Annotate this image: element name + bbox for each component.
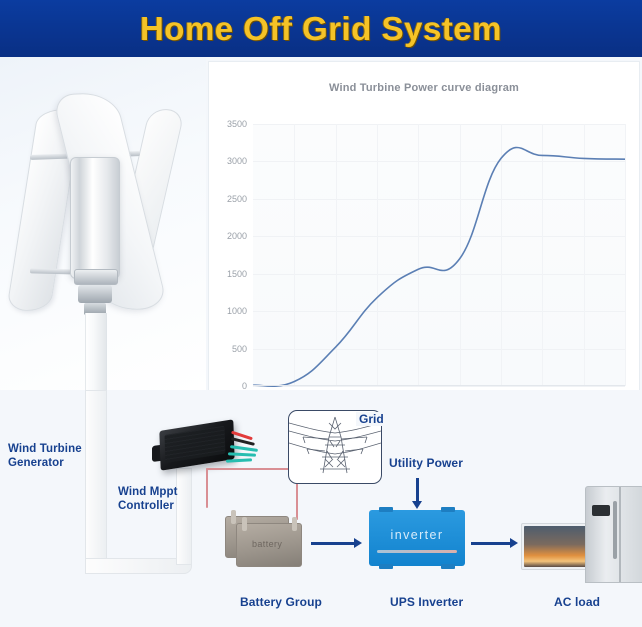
- fridge-display-panel: [592, 505, 610, 516]
- label-battery-group: Battery Group: [240, 595, 322, 609]
- chart-y-tick: 2500: [227, 194, 247, 204]
- label-ac-load: AC load: [554, 595, 600, 609]
- dc-wire-vertical: [206, 468, 208, 508]
- tv-screen: [524, 526, 592, 567]
- chart-y-tick: 1000: [227, 306, 247, 316]
- battery-inverter-arrow-head: [354, 538, 362, 548]
- inverter-clip-bl: [379, 564, 393, 569]
- battery-inverter-arrow-line: [311, 542, 355, 545]
- top-section: Wind Turbine Power curve diagram 0500100…: [0, 57, 642, 390]
- wind-mppt-controller: [159, 419, 234, 470]
- mppt-wire-teal-3: [226, 458, 252, 462]
- inverter-clip-br: [441, 564, 455, 569]
- power-curve-chart-panel: Wind Turbine Power curve diagram 0500100…: [208, 61, 640, 431]
- system-diagram: Wind Turbine Generator Wind Mppt Control…: [0, 390, 642, 627]
- turbine-coupler-upper: [74, 269, 118, 285]
- chart-y-tick: 3500: [227, 119, 247, 129]
- turbine-coupler-mid: [78, 285, 112, 303]
- wind-power-curve: [253, 124, 625, 386]
- inverter-load-arrow-head: [510, 538, 518, 548]
- fridge-handle: [613, 501, 617, 559]
- inverter-clip-tl: [379, 507, 393, 512]
- label-grid: Grid: [356, 412, 387, 426]
- ups-inverter: inverter: [369, 510, 465, 566]
- inverter-load-arrow-line: [471, 542, 511, 545]
- chart-y-tick: 500: [232, 344, 247, 354]
- chart-x-axis: [253, 385, 625, 386]
- chart-title: Wind Turbine Power curve diagram: [209, 82, 639, 94]
- utility-arrow-head: [412, 501, 422, 509]
- battery-terminal-back: [231, 510, 236, 524]
- refrigerator-ac-load: [585, 486, 642, 583]
- turbine-mast: [85, 313, 107, 390]
- power-curve-line: [253, 147, 625, 386]
- chart-plot-area: 0500100015002000250030003500 02m/s5m/s8m…: [253, 124, 625, 386]
- chart-y-tick: 3000: [227, 156, 247, 166]
- label-ups-inverter: UPS Inverter: [390, 595, 463, 609]
- tv-ac-load: [521, 523, 595, 570]
- label-wind-mppt-controller: Wind Mppt Controller: [118, 485, 178, 513]
- battery-box-label: battery: [252, 539, 282, 549]
- chart-y-tick: 1500: [227, 269, 247, 279]
- wind-turbine-photo: [0, 57, 206, 390]
- chart-y-tick: 2000: [227, 231, 247, 241]
- inverter-box-label: inverter: [369, 528, 465, 542]
- page-title: Home Off Grid System: [140, 10, 502, 48]
- mppt-label-face: [164, 426, 225, 463]
- dc-wire-horizontal: [206, 468, 298, 470]
- turbine-mast-lower: [85, 390, 107, 560]
- label-wind-turbine-generator: Wind Turbine Generator: [8, 442, 82, 470]
- turbine-generator-hub: [70, 157, 120, 279]
- page-header: Home Off Grid System: [0, 0, 642, 57]
- chart-gridline-x: [625, 124, 626, 386]
- chart-gridline: [253, 386, 625, 387]
- turbine-conduit-vertical: [176, 468, 192, 565]
- inverter-stripe: [377, 550, 457, 553]
- utility-arrow-line: [416, 478, 419, 502]
- fridge-door-split: [619, 487, 621, 582]
- battery-terminal-front: [242, 517, 247, 531]
- battery-terminal-front-2: [292, 517, 297, 531]
- label-utility-power: Utility Power: [389, 456, 463, 470]
- inverter-clip-tr: [441, 507, 455, 512]
